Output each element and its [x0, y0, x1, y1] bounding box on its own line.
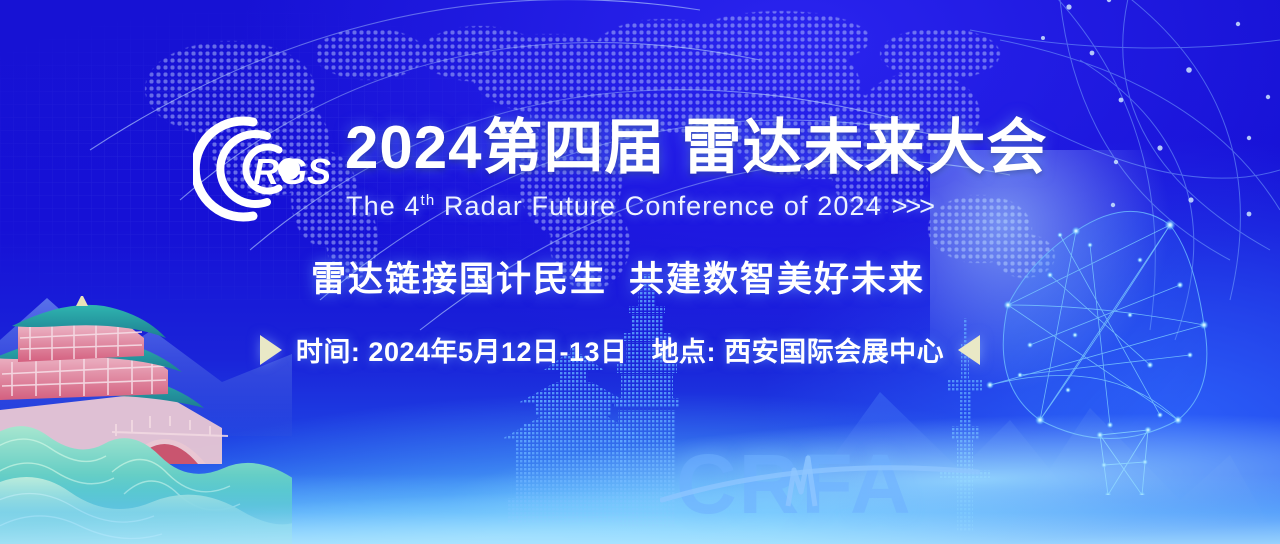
place-value: 西安国际会展中心 — [724, 337, 944, 367]
play-triangle-right-icon — [260, 335, 282, 365]
slogan-left: 雷达链接国计民生 — [311, 260, 607, 299]
subtitle-prefix: The 4 — [346, 191, 421, 221]
rgs-logo: RGS — [193, 116, 333, 222]
chevron-right-arrows-icon: >>> — [892, 191, 933, 221]
page-title: 2024第四届雷达未来大会 — [345, 116, 1047, 179]
title-edition: 第四届 — [482, 114, 665, 181]
subtitle-ordinal: th — [421, 192, 436, 209]
title-year: 2024 — [345, 114, 482, 181]
subtitle-english: The 4th Radar Future Conference of 2024>… — [346, 191, 933, 222]
time-value: 2024年5月12日-13日 — [368, 337, 627, 367]
conference-banner: CRFA RGS 2024第四届雷达未来大会 The 4th Radar Fut — [0, 0, 1280, 544]
place-label: 地点: — [652, 337, 717, 367]
slogan: 雷达链接国计民生共建数智美好未来 — [0, 251, 1280, 302]
title-name: 雷达未来大会 — [681, 114, 1047, 181]
time-label: 时间: — [296, 337, 361, 367]
play-triangle-left-icon — [958, 335, 980, 365]
banner-content: RGS 2024第四届雷达未来大会 The 4th Radar Future C… — [0, 0, 1280, 544]
rgs-logo-text: RGS — [253, 151, 331, 192]
event-info-text: 时间: 2024年5月12日-13日地点: 西安国际会展中心 — [296, 330, 944, 369]
event-info-row: 时间: 2024年5月12日-13日地点: 西安国际会展中心 — [0, 330, 1260, 369]
subtitle-rest: Radar Future Conference of 2024 — [435, 191, 881, 221]
slogan-right: 共建数智美好未来 — [629, 260, 925, 299]
